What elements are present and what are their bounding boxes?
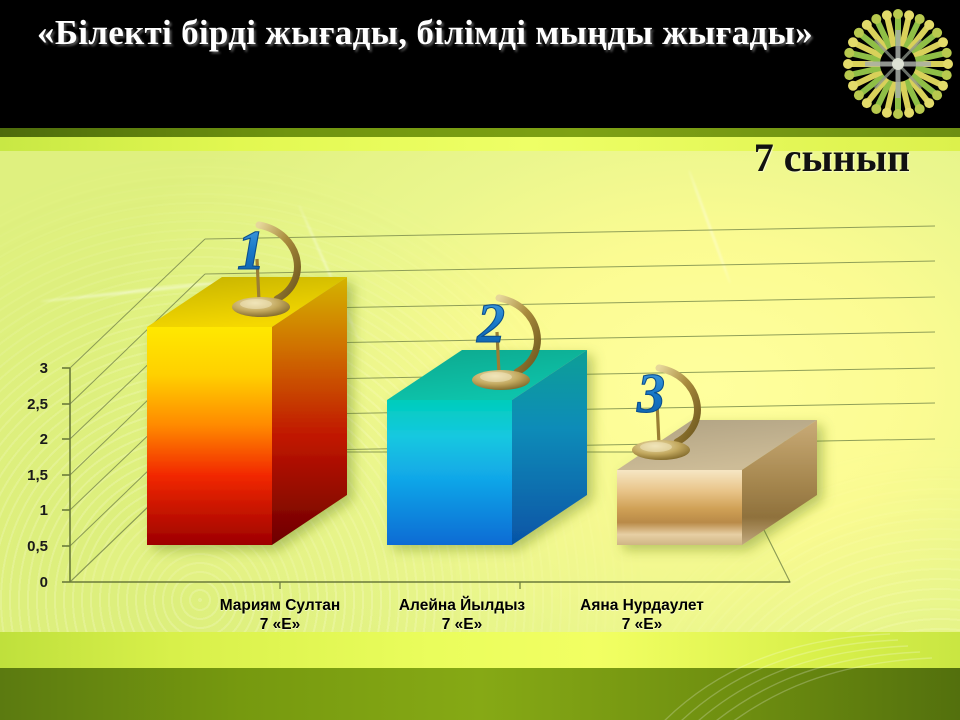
trophy-number-2: 2 (476, 293, 505, 355)
x-axis-ticks (280, 582, 520, 589)
bar-1[interactable] (147, 277, 347, 545)
y-tick-label-3: 3 (8, 360, 48, 377)
bar-3[interactable] (617, 420, 817, 545)
header-bar: «Білекті бірді жығады, білімді мыңды жығ… (0, 0, 960, 128)
chart-svg: 1 2 3 (0, 128, 960, 648)
trophy-base-highlight-3 (640, 442, 672, 452)
footer-swirl-decoration (640, 628, 960, 720)
bar-3-front (617, 470, 742, 545)
category-label-1-name: Мариям Султан (190, 596, 370, 615)
slide: «Білекті бірді жығады, білімді мыңды жығ… (0, 0, 960, 720)
y-tick-label-25: 2,5 (8, 396, 48, 413)
trophy-base-highlight-2 (480, 372, 512, 382)
y-tick-label-05: 0,5 (8, 538, 48, 555)
trophy-number-3: 3 (636, 363, 665, 425)
bar-2-front (387, 400, 512, 545)
y-tick-label-1: 1 (8, 502, 48, 519)
y-axis-ticks (62, 368, 70, 582)
y-tick-label-0: 0 (8, 574, 48, 591)
bar-chart: 1 2 3 0 0,5 1 1,5 2 2,5 (0, 128, 960, 648)
bar-1-front (147, 327, 272, 545)
category-label-1: Мариям Султан 7 «Е» (190, 596, 370, 635)
trophy-base-highlight-1 (240, 299, 272, 309)
y-tick-label-2: 2 (8, 431, 48, 448)
starburst-emblem (843, 2, 953, 126)
category-label-2: Алейна Йылдыз 7 «Е» (372, 596, 552, 635)
category-label-2-name: Алейна Йылдыз (372, 596, 552, 615)
trophy-number-1: 1 (237, 220, 265, 282)
page-title: «Білекті бірді жығады, білімді мыңды жығ… (30, 8, 820, 59)
y-tick-label-15: 1,5 (8, 467, 48, 484)
category-label-3-name: Аяна Нурдаулет (552, 596, 732, 615)
